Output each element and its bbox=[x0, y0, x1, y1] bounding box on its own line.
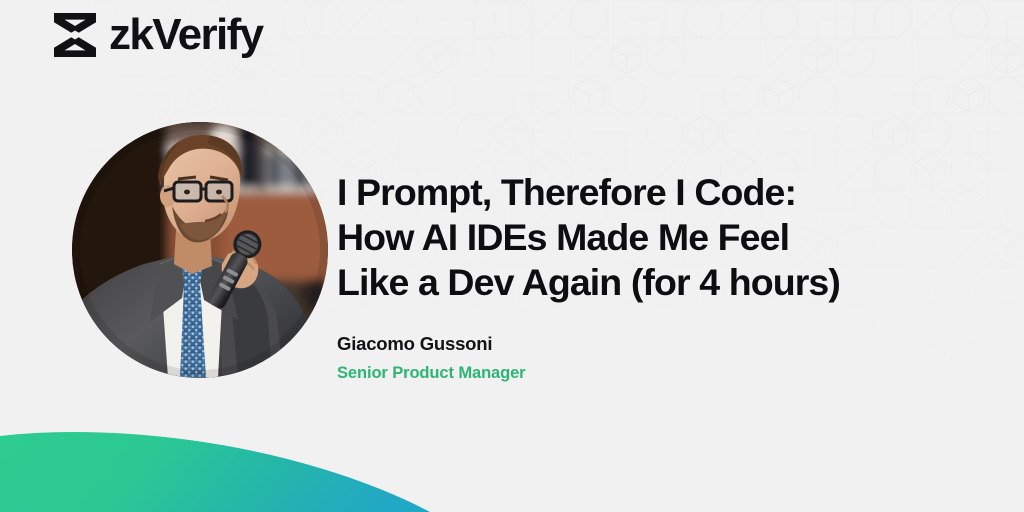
zkverify-hourglass-logo-icon bbox=[52, 11, 98, 59]
talk-title: I Prompt, Therefore I Code: How AI IDEs … bbox=[337, 170, 1017, 305]
speaker-role: Senior Product Manager bbox=[337, 355, 1017, 384]
presentation-slide: zkVerify bbox=[0, 0, 1024, 512]
speaker-name: Giacomo Gussoni bbox=[337, 305, 1017, 355]
zkverify-logo[interactable]: zkVerify bbox=[52, 10, 263, 60]
talk-info: I Prompt, Therefore I Code: How AI IDEs … bbox=[337, 170, 1017, 384]
speaker-avatar bbox=[72, 122, 328, 378]
zkverify-wordmark: zkVerify bbox=[109, 13, 263, 57]
green-teal-gradient-wave bbox=[0, 392, 1024, 512]
